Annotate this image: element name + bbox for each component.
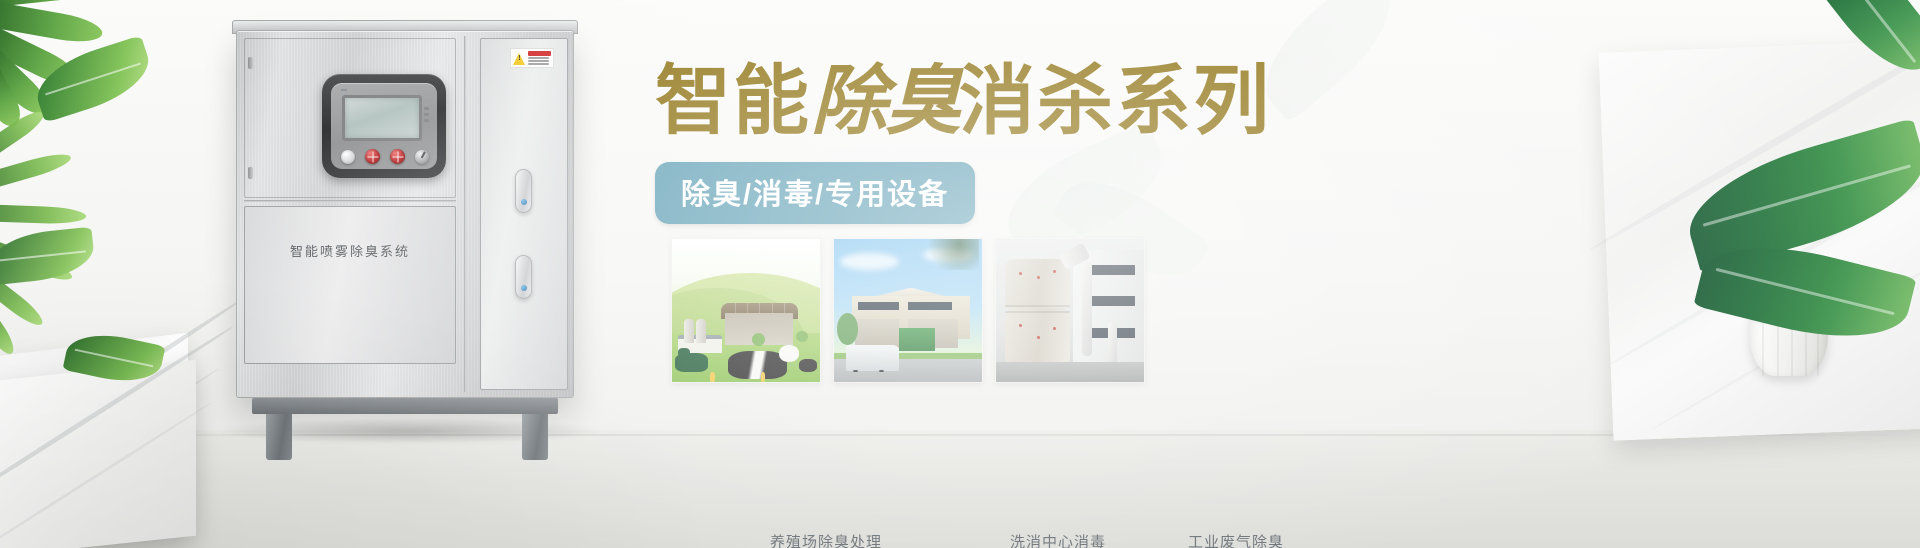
- cabinet-leg-right: [522, 414, 548, 460]
- page-title: 智能除臭消杀系列: [655, 62, 1355, 140]
- marble-tile-left-front: [0, 360, 196, 548]
- cabinet-handle-lower[interactable]: [515, 255, 532, 299]
- application-thumbnail-list: [671, 238, 1145, 383]
- cabinet-vertical-seam: [464, 36, 466, 392]
- warning-triangle-icon: [513, 52, 526, 65]
- thumbnail-dairy-farm[interactable]: [671, 238, 821, 383]
- deodorizing-cabinet: 智能喷雾除臭系统 HMI: [236, 30, 574, 398]
- thumbnail-vehicle-disinfection-station[interactable]: [833, 238, 983, 383]
- warning-label: [510, 48, 554, 68]
- title-segment-3: 消杀系列: [959, 56, 1271, 145]
- bottom-caption-3: 工业废气除臭: [1188, 531, 1284, 548]
- status-badge: 除臭/消毒/专用设备: [655, 162, 975, 224]
- cabinet-label: 智能喷雾除臭系统: [245, 241, 455, 260]
- title-segment-2: 除臭: [811, 56, 959, 145]
- emergency-stop-button-1[interactable]: [365, 149, 380, 164]
- headline-block: 智能除臭消杀系列 除臭/消毒/专用设备: [655, 62, 1355, 224]
- control-panel-bezel: HMI: [322, 74, 446, 178]
- hmi-softkeys[interactable]: [424, 107, 445, 122]
- cabinet-leg-left: [266, 414, 292, 460]
- cabinet-horizontal-seam: [244, 200, 456, 202]
- hmi-brand-text: HMI: [341, 88, 347, 92]
- cabinet-lower-door[interactable]: 智能喷雾除臭系统: [244, 206, 456, 364]
- cabinet-base-plinth: [252, 398, 558, 414]
- cabinet-handle-upper[interactable]: [515, 169, 532, 213]
- thumbnail-deodorizing-scrubber-tanks[interactable]: [995, 238, 1145, 383]
- emergency-stop-button-2[interactable]: [390, 149, 405, 164]
- control-panel-face: HMI: [331, 83, 437, 169]
- title-segment-1: 智能: [655, 56, 811, 145]
- cabinet-side-door[interactable]: [480, 38, 568, 390]
- control-row: [341, 149, 429, 164]
- power-lamp-indicator[interactable]: [341, 150, 355, 164]
- bottom-caption-row: 养殖场除臭处理 洗消中心消毒 工业废气除臭: [0, 528, 1920, 548]
- hmi-touchscreen[interactable]: [342, 95, 422, 141]
- product-hero-banner: 智能喷雾除臭系统 HMI: [0, 0, 1920, 548]
- warning-label-text: [526, 50, 553, 66]
- bottom-caption-1: 养殖场除臭处理: [770, 531, 882, 548]
- mode-selector-knob[interactable]: [415, 150, 429, 164]
- bottom-caption-2: 洗消中心消毒: [1010, 531, 1106, 548]
